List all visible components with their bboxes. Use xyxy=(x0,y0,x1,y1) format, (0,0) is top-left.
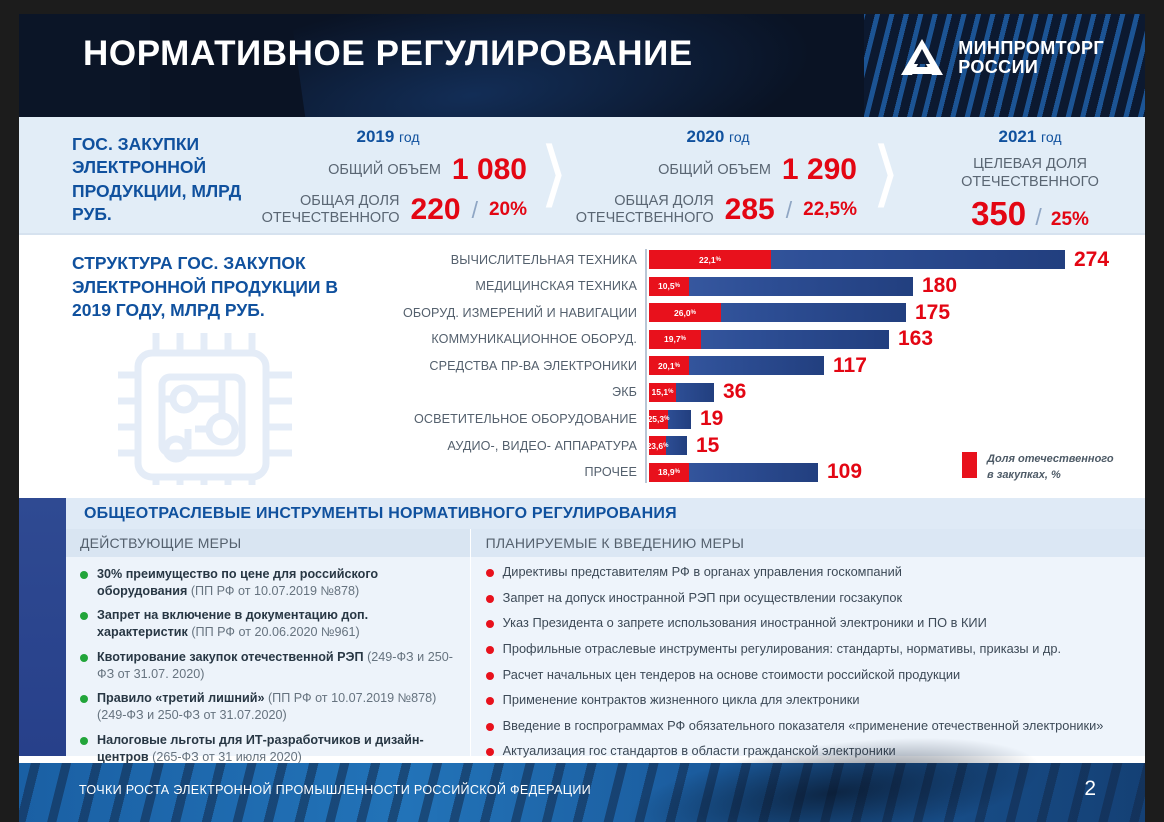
list-item-note: (ПП РФ от 10.07.2019 №878) xyxy=(187,584,359,598)
list-item: Запрет на допуск иностранной РЭП при осу… xyxy=(486,590,1131,607)
chart-bar-group: 22,1% 274 xyxy=(649,250,1109,269)
metric-total-value: 1 080 xyxy=(452,153,527,187)
chart-value-label: 180 xyxy=(922,274,957,298)
chart-value-label: 19 xyxy=(700,407,723,431)
chart-bar-share: 22,1% xyxy=(649,250,771,269)
slide-footer: ТОЧКИ РОСТА ЭЛЕКТРОННОЙ ПРОМЫШЛЕННОСТИ Р… xyxy=(0,763,1164,822)
chevron-separator-1: ⟩ xyxy=(540,135,568,217)
chart-bar-total: 19,7% xyxy=(649,330,889,349)
chart-row: СРЕДСТВА ПР-ВА ЭЛЕКТРОНИКИ 20,1% 117 xyxy=(352,353,992,378)
year-label-2021: 2021 год xyxy=(905,117,1155,147)
metric-share-2020: ОБЩАЯ ДОЛЯ ОТЕЧЕСТВЕННОГО 285 / 22,5% xyxy=(573,193,863,227)
chart-share-label: 25,3 xyxy=(648,414,665,424)
slash-divider: / xyxy=(786,197,792,224)
chart-row: ОСВЕТИТЕЛЬНОЕ ОБОРУДОВАНИЕ 25,3% 19 xyxy=(352,407,992,432)
chart-category-label: ПРОЧЕЕ xyxy=(352,465,649,479)
viewer-edge-top xyxy=(0,0,1164,14)
year-number: 2019 xyxy=(356,127,394,146)
bullet-dot-icon xyxy=(486,672,494,680)
metric-target-values: 350 / 25% xyxy=(905,195,1155,233)
chart-row: КОММУНИКАЦИОННОЕ ОБОРУД. 19,7% 163 xyxy=(352,327,992,352)
chart-bar-total: 20,1% xyxy=(649,356,824,375)
chart-bar-group: 20,1% 117 xyxy=(649,356,867,375)
chart-bar-share: 15,1% xyxy=(649,383,676,402)
chart-bar-share: 23,6% xyxy=(649,436,666,455)
section-divider xyxy=(0,233,1164,235)
chevron-separator-2: ⟩ xyxy=(872,135,900,217)
metric-share-label: ОБЩАЯ ДОЛЯ ОТЕЧЕСТВЕННОГО xyxy=(573,193,714,226)
year-word: год xyxy=(1041,129,1061,145)
year-label-2020: 2020 год xyxy=(573,117,863,147)
bullet-dot-icon xyxy=(80,737,88,745)
year-word: год xyxy=(729,129,749,145)
chart-bar-total: 10,5% xyxy=(649,277,913,296)
chart-category-label: ОБОРУД. ИЗМЕРЕНИЙ И НАВИГАЦИИ xyxy=(352,306,649,320)
logo-text: МИНПРОМТОРГ РОССИИ xyxy=(958,39,1104,78)
list-item: Расчет начальных цен тендеров на основе … xyxy=(486,667,1131,684)
chart-bar-total: 22,1% xyxy=(649,250,1065,269)
list-item: Налоговые льготы для ИТ-разработчиков и … xyxy=(80,732,458,765)
year-block-2020: 2020 год ОБЩИЙ ОБЪЕМ 1 290 ОБЩАЯ ДОЛЯ ОТ… xyxy=(573,117,863,233)
year-word: год xyxy=(399,129,419,145)
chart-share-label: 26,0 xyxy=(674,308,691,318)
chart-bar-group: 19,7% 163 xyxy=(649,330,933,349)
slash-divider: / xyxy=(472,197,478,224)
chart-bar-share: 18,9% xyxy=(649,463,689,482)
list-item-text: Налоговые льготы для ИТ-разработчиков и … xyxy=(97,732,458,765)
chart-legend: Доля отечественного в закупках, % xyxy=(962,452,1114,483)
bullet-dot-icon xyxy=(486,595,494,603)
chart-row: АУДИО-, ВИДЕО- АППАРАТУРА 23,6% 15 xyxy=(352,433,992,458)
chart-value-label: 36 xyxy=(723,380,746,404)
list-item-text: 30% преимущество по цене для российского… xyxy=(97,566,458,599)
chart-value-label: 15 xyxy=(696,434,719,458)
bullet-dot-icon xyxy=(80,612,88,620)
triangle-logo-icon xyxy=(899,37,945,79)
legend-line-1: Доля отечественного xyxy=(987,452,1114,468)
metric-share-label: ОБЩАЯ ДОЛЯ ОТЕЧЕСТВЕННОГО xyxy=(243,193,400,226)
logo-line-1: МИНПРОМТОРГ xyxy=(958,39,1104,58)
chart-bar-share: 26,0% xyxy=(649,303,721,322)
chart-bar-total: 23,6% xyxy=(649,436,687,455)
chart-rows: ВЫЧИСЛИТЕЛЬНАЯ ТЕХНИКА 22,1% 274 МЕДИЦИН… xyxy=(352,247,992,486)
chart-bar-total: 25,3% xyxy=(649,410,691,429)
year-number: 2021 xyxy=(998,127,1036,146)
chart-bar-group: 18,9% 109 xyxy=(649,463,862,482)
chart-value-label: 109 xyxy=(827,460,862,484)
list-item-bold: Правило «третий лишний» xyxy=(97,691,264,705)
current-measures-header: ДЕЙСТВУЮЩИЕ МЕРЫ xyxy=(66,529,470,557)
chart-value-label: 163 xyxy=(898,327,933,351)
bullet-dot-icon xyxy=(80,571,88,579)
page-title: НОРМАТИВНОЕ РЕГУЛИРОВАНИЕ xyxy=(83,34,693,74)
list-item-note: (265-ФЗ от 31 июля 2020) xyxy=(149,750,302,764)
ministry-logo: МИНПРОМТОРГ РОССИИ xyxy=(899,37,1104,79)
list-item: Директивы представителям РФ в органах уп… xyxy=(486,564,1131,581)
list-item-text: Расчет начальных цен тендеров на основе … xyxy=(503,667,961,684)
list-item-note: (ПП РФ от 20.06.2020 №961) xyxy=(188,625,360,639)
chart-bar-group: 26,0% 175 xyxy=(649,303,950,322)
chart-category-label: ОСВЕТИТЕЛЬНОЕ ОБОРУДОВАНИЕ xyxy=(352,412,649,426)
left-accent-bar xyxy=(19,498,66,756)
chart-bar-group: 23,6% 15 xyxy=(649,436,719,455)
list-item: Запрет на включение в документацию доп. … xyxy=(80,607,458,640)
current-measures-list: 30% преимущество по цене для российского… xyxy=(66,557,470,765)
metric-share-value: 285 xyxy=(725,193,775,227)
list-item-text: Запрет на допуск иностранной РЭП при осу… xyxy=(503,590,902,607)
list-item-text: Применение контрактов жизненного цикла д… xyxy=(503,692,860,709)
current-measures-column: ДЕЙСТВУЮЩИЕ МЕРЫ 30% преимущество по цен… xyxy=(66,529,470,756)
list-item: Указ Президента о запрете использования … xyxy=(486,615,1131,632)
bullet-dot-icon xyxy=(486,723,494,731)
chart-share-label: 18,9 xyxy=(658,467,675,477)
metric-share-pct: 20% xyxy=(489,199,527,221)
chart-bar-group: 10,5% 180 xyxy=(649,277,957,296)
list-item-text: Запрет на включение в документацию доп. … xyxy=(97,607,458,640)
year-label-2019: 2019 год xyxy=(243,117,533,147)
chart-category-label: ЭКБ xyxy=(352,385,649,399)
chart-share-label: 23,6 xyxy=(647,441,664,451)
planned-measures-column: ПЛАНИРУЕМЫЕ К ВВЕДЕНИЮ МЕРЫ Директивы пр… xyxy=(470,529,1145,756)
year-number: 2020 xyxy=(686,127,724,146)
chart-bar-total: 15,1% xyxy=(649,383,714,402)
viewer-edge-right xyxy=(1145,0,1164,822)
year-block-2021: 2021 год ЦЕЛЕВАЯ ДОЛЯ ОТЕЧЕСТВЕННОГО 350… xyxy=(905,117,1155,233)
bullet-dot-icon xyxy=(80,695,88,703)
chart-row: МЕДИЦИНСКАЯ ТЕХНИКА 10,5% 180 xyxy=(352,274,992,299)
list-item: Квотирование закупок отечественной РЭП (… xyxy=(80,649,458,682)
legend-label: Доля отечественного в закупках, % xyxy=(987,452,1114,483)
chart-share-label: 19,7 xyxy=(664,334,681,344)
chart-share-label: 20,1 xyxy=(658,361,675,371)
chart-row: ЭКБ 15,1% 36 xyxy=(352,380,992,405)
chart-bar-share: 20,1% xyxy=(649,356,689,375)
legend-line-2: в закупках, % xyxy=(987,468,1114,484)
statistics-band: ГОС. ЗАКУПКИ ЭЛЕКТРОННОЙ ПРОДУКЦИИ, МЛРД… xyxy=(0,117,1164,233)
list-item-bold: Квотирование закупок отечественной РЭП xyxy=(97,650,364,664)
chart-share-label: 10,5 xyxy=(658,281,675,291)
metric-total-2019: ОБЩИЙ ОБЪЕМ 1 080 xyxy=(243,153,533,187)
metric-total-2020: ОБЩИЙ ОБЪЕМ 1 290 xyxy=(573,153,863,187)
regulation-columns: ДЕЙСТВУЮЩИЕ МЕРЫ 30% преимущество по цен… xyxy=(66,529,1145,756)
chart-bar-share: 19,7% xyxy=(649,330,701,349)
page-number: 2 xyxy=(1084,777,1096,801)
metric-total-label: ОБЩИЙ ОБЪЕМ xyxy=(658,162,771,179)
chart-bar-total: 18,9% xyxy=(649,463,818,482)
metric-target-label: ЦЕЛЕВАЯ ДОЛЯ ОТЕЧЕСТВЕННОГО xyxy=(905,155,1155,191)
chart-value-label: 175 xyxy=(915,301,950,325)
chart-category-label: АУДИО-, ВИДЕО- АППАРАТУРА xyxy=(352,439,649,453)
slash-divider: / xyxy=(1035,204,1041,230)
metric-share-pct: 22,5% xyxy=(803,199,857,221)
regulation-panel-title: ОБЩЕОТРАСЛЕВЫЕ ИНСТРУМЕНТЫ НОРМАТИВНОГО … xyxy=(66,498,1145,529)
chart-bar-share: 10,5% xyxy=(649,277,689,296)
viewer-edge-left xyxy=(0,0,19,822)
bullet-dot-icon xyxy=(486,569,494,577)
list-item-text: Директивы представителям РФ в органах уп… xyxy=(503,564,902,581)
list-item-text: Указ Президента о запрете использования … xyxy=(503,615,987,632)
microchip-watermark-icon xyxy=(110,325,300,490)
bullet-dot-icon xyxy=(80,654,88,662)
chart-share-label: 15,1 xyxy=(652,387,669,397)
metric-share-value: 350 xyxy=(971,195,1026,232)
chart-category-label: ВЫЧИСЛИТЕЛЬНАЯ ТЕХНИКА xyxy=(352,253,649,267)
bullet-dot-icon xyxy=(486,620,494,628)
bullet-dot-icon xyxy=(486,646,494,654)
chart-bar-group: 25,3% 19 xyxy=(649,410,723,429)
metric-share-2019: ОБЩАЯ ДОЛЯ ОТЕЧЕСТВЕННОГО 220 / 20% xyxy=(243,193,533,227)
metric-share-value: 220 xyxy=(411,193,461,227)
chart-title: СТРУКТУРА ГОС. ЗАКУПОК ЭЛЕКТРОННОЙ ПРОДУ… xyxy=(72,252,352,323)
year-block-2019: 2019 год ОБЩИЙ ОБЪЕМ 1 080 ОБЩАЯ ДОЛЯ ОТ… xyxy=(243,117,533,233)
chart-row: ПРОЧЕЕ 18,9% 109 xyxy=(352,460,992,485)
chart-section: СТРУКТУРА ГОС. ЗАКУПОК ЭЛЕКТРОННОЙ ПРОДУ… xyxy=(0,233,1164,491)
metric-total-value: 1 290 xyxy=(782,153,857,187)
chart-value-label: 274 xyxy=(1074,248,1109,272)
footer-title: ТОЧКИ РОСТА ЭЛЕКТРОННОЙ ПРОМЫШЛЕННОСТИ Р… xyxy=(79,783,591,797)
list-item-text: Квотирование закупок отечественной РЭП (… xyxy=(97,649,458,682)
chart-bar-group: 15,1% 36 xyxy=(649,383,746,402)
chart-category-label: КОММУНИКАЦИОННОЕ ОБОРУД. xyxy=(352,332,649,346)
chart-category-label: СРЕДСТВА ПР-ВА ЭЛЕКТРОНИКИ xyxy=(352,359,649,373)
chart-share-label: 22,1 xyxy=(699,255,716,265)
list-item-text: Правило «третий лишний» (ПП РФ от 10.07.… xyxy=(97,690,458,723)
list-item: Применение контрактов жизненного цикла д… xyxy=(486,692,1131,709)
slide-header: НОРМАТИВНОЕ РЕГУЛИРОВАНИЕ МИНПРОМТОРГ РО… xyxy=(0,0,1164,117)
metric-total-label: ОБЩИЙ ОБЪЕМ xyxy=(328,162,441,179)
planned-measures-list: Директивы представителям РФ в органах уп… xyxy=(471,557,1145,760)
metric-share-pct: 25% xyxy=(1051,209,1089,230)
regulation-panel: ОБЩЕОТРАСЛЕВЫЕ ИНСТРУМЕНТЫ НОРМАТИВНОГО … xyxy=(66,498,1145,756)
planned-measures-header: ПЛАНИРУЕМЫЕ К ВВЕДЕНИЮ МЕРЫ xyxy=(471,529,1145,557)
list-item: 30% преимущество по цене для российского… xyxy=(80,566,458,599)
chart-value-label: 117 xyxy=(833,354,867,378)
legend-color-swatch xyxy=(962,452,977,478)
regulation-section: ОБЩЕОТРАСЛЕВЫЕ ИНСТРУМЕНТЫ НОРМАТИВНОГО … xyxy=(0,491,1164,763)
list-item: Правило «третий лишний» (ПП РФ от 10.07.… xyxy=(80,690,458,723)
chart-bar-share: 25,3% xyxy=(649,410,668,429)
list-item: Профильные отраслевые инструменты регули… xyxy=(486,641,1131,658)
logo-line-2: РОССИИ xyxy=(958,58,1104,77)
bullet-dot-icon xyxy=(486,748,494,756)
chart-row: ОБОРУД. ИЗМЕРЕНИЙ И НАВИГАЦИИ 26,0% 175 xyxy=(352,300,992,325)
slide: НОРМАТИВНОЕ РЕГУЛИРОВАНИЕ МИНПРОМТОРГ РО… xyxy=(0,0,1164,822)
chart-row: ВЫЧИСЛИТЕЛЬНАЯ ТЕХНИКА 22,1% 274 xyxy=(352,247,992,272)
list-item-text: Профильные отраслевые инструменты регули… xyxy=(503,641,1061,658)
chart-bar-total: 26,0% xyxy=(649,303,906,322)
chart-category-label: МЕДИЦИНСКАЯ ТЕХНИКА xyxy=(352,279,649,293)
bullet-dot-icon xyxy=(486,697,494,705)
